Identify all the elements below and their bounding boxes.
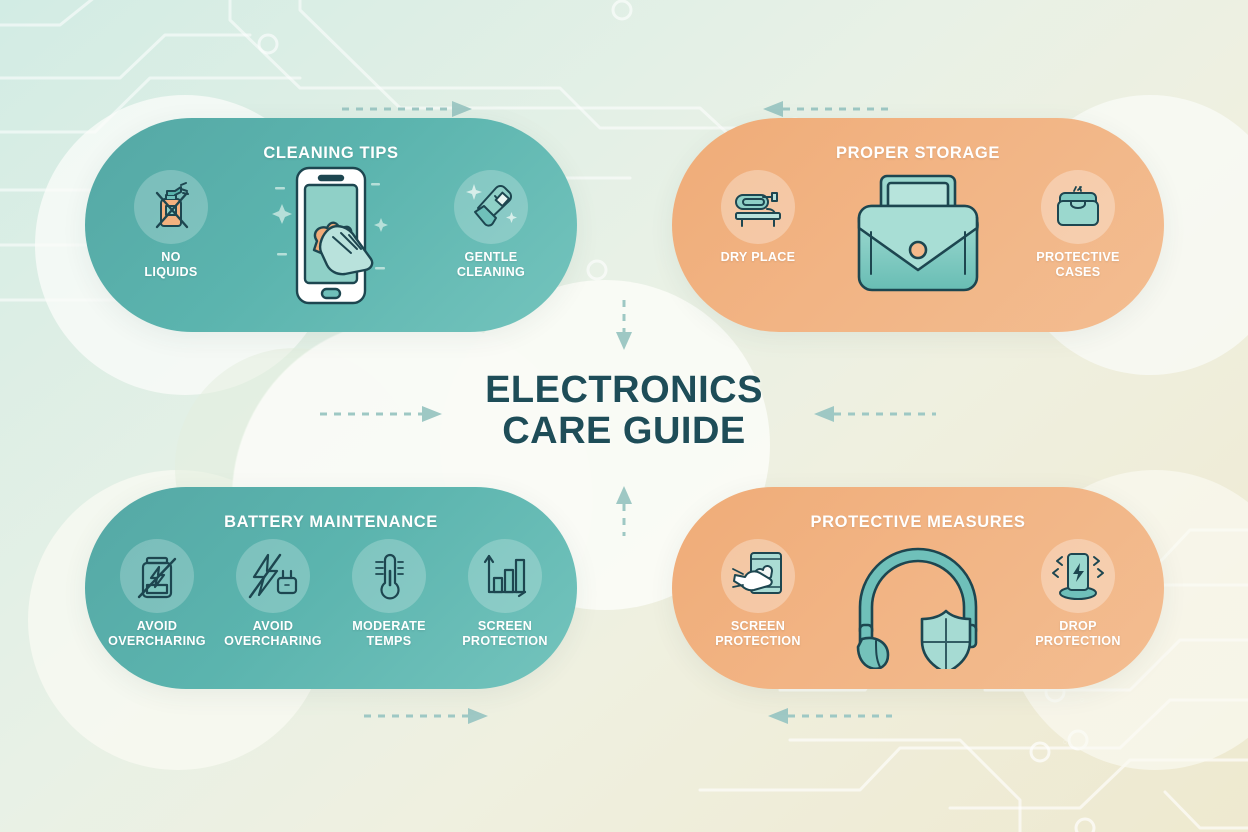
panel-title-protective: PROTECTIVE MEASURES [672, 513, 1164, 532]
infographic-canvas: ELECTRONICS CARE GUIDE CLEANING TIPS [0, 0, 1248, 832]
battery-no-charge-icon [120, 539, 194, 613]
item-label-screen-protection-battery: SCREEN PROTECTION [462, 619, 548, 649]
item-label-gentle-cleaning: GENTLE CLEANING [457, 250, 525, 280]
arrow-center-down [613, 300, 635, 352]
panel-proper-storage[interactable]: PROPER STORAGE [672, 118, 1164, 332]
page-title-line2: CARE GUIDE [374, 411, 874, 452]
arrow-top-right-left [755, 98, 895, 120]
headphones-shield-icon [843, 539, 993, 669]
cleaning-cloth-brush-icon [454, 170, 528, 244]
item-screen-protection-chart[interactable]: SCREEN PROTECTION [447, 539, 563, 649]
arrow-top-left-right [340, 98, 480, 120]
item-drop-protection[interactable]: DROP PROTECTION [1019, 539, 1137, 649]
phone-wiping-hand-icon [256, 170, 406, 300]
item-label-avoid-overcharging-1: AVOID OVERCHARING [108, 619, 206, 649]
panel-cleaning-tips[interactable]: CLEANING TIPS [85, 118, 577, 332]
panel-protective-measures[interactable]: PROTECTIVE MEASURES SCREEN [672, 487, 1164, 689]
item-label-avoid-overcharging-2: AVOID OVERCHARING [224, 619, 322, 649]
item-gentle-cleaning[interactable]: GENTLE CLEANING [432, 170, 550, 280]
item-avoid-overcharging-battery[interactable]: AVOID OVERCHARING [99, 539, 215, 649]
panel-title-battery: BATTERY MAINTENANCE [85, 513, 577, 532]
item-label-no-liquids: NO LIQUIDS [144, 250, 197, 280]
item-phone-wiping[interactable] [256, 170, 406, 300]
cable-on-shelf-icon [721, 170, 795, 244]
item-label-protective-cases: PROTECTIVE CASES [1036, 250, 1119, 280]
protective-case-icon [1041, 170, 1115, 244]
item-screen-protection[interactable]: SCREEN PROTECTION [699, 539, 817, 649]
item-moderate-temps[interactable]: MODERATE TEMPS [331, 539, 447, 649]
item-avoid-overcharging-plug[interactable]: AVOID OVERCHARING [215, 539, 331, 649]
arrow-center-up [613, 484, 635, 536]
panel-title-cleaning: CLEANING TIPS [85, 144, 577, 163]
arrow-bottom-left-right [362, 705, 494, 727]
item-label-moderate-temps: MODERATE TEMPS [352, 619, 426, 649]
phone-drop-impact-icon [1041, 539, 1115, 613]
item-protective-cases[interactable]: PROTECTIVE CASES [1019, 170, 1137, 280]
bar-chart-icon [468, 539, 542, 613]
arrow-bottom-right-left [762, 705, 894, 727]
spray-bottle-no-liquids-icon [134, 170, 208, 244]
thermometer-icon [352, 539, 426, 613]
item-dry-place[interactable]: DRY PLACE [699, 170, 817, 265]
bolt-plug-icon [236, 539, 310, 613]
item-label-screen-protection: SCREEN PROTECTION [715, 619, 801, 649]
laptop-bag-icon [843, 170, 993, 300]
screen-protector-hand-icon [721, 539, 795, 613]
page-title-line1: ELECTRONICS [374, 370, 874, 411]
item-laptop-bag[interactable] [843, 170, 993, 300]
page-title: ELECTRONICS CARE GUIDE [374, 370, 874, 452]
item-headphones-shield[interactable] [843, 539, 993, 669]
panel-battery-maintenance[interactable]: BATTERY MAINTENANCE AVOID [85, 487, 577, 689]
panel-title-storage: PROPER STORAGE [672, 144, 1164, 163]
item-no-liquids[interactable]: NO LIQUIDS [112, 170, 230, 280]
item-label-dry-place: DRY PLACE [721, 250, 796, 265]
item-label-drop-protection: DROP PROTECTION [1035, 619, 1121, 649]
